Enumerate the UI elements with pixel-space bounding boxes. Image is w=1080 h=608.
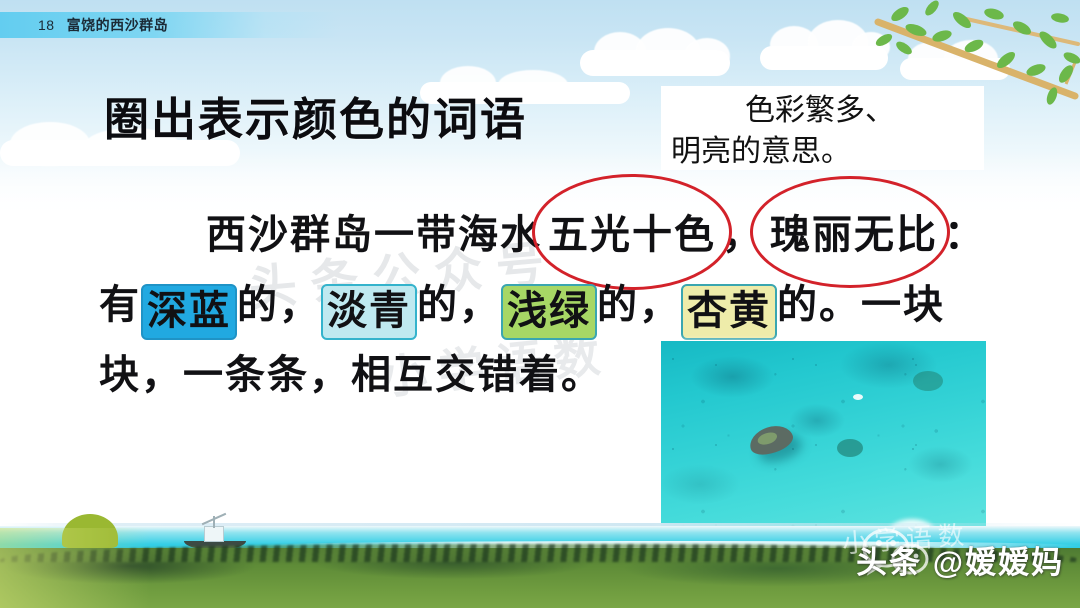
- circled-phrase-wuguangshise[interactable]: 五光十色: [542, 200, 722, 270]
- circled-phrase-guilwubi[interactable]: 瑰丽无比: [764, 200, 944, 270]
- lesson-number: 18: [38, 17, 55, 33]
- corner-glow: [0, 528, 150, 608]
- slide-canvas: 18 富饶的西沙群岛 圈出表示颜色的词语 色: [0, 0, 1080, 608]
- highlight-word-danqing[interactable]: 淡青: [321, 284, 417, 340]
- annotation-line-1: 色彩繁多、: [671, 90, 970, 131]
- coral-patch: [913, 371, 943, 391]
- annotation-line-2: 明亮的意思。: [671, 131, 970, 172]
- line2-sep-1: 的，: [237, 282, 321, 327]
- lesson-title: 富饶的西沙群岛: [67, 15, 169, 35]
- highlight-word-xinghuang[interactable]: 杏黄: [681, 284, 777, 340]
- text-line-2: 有深蓝的，淡青的，浅绿的，杏黄的。一块: [0, 270, 1010, 340]
- cloud-shape: [684, 38, 730, 74]
- text-line-1: 西沙群岛一带海水五光十色，瑰丽无比：: [0, 200, 1010, 270]
- page-title: 圈出表示颜色的词语: [104, 83, 527, 148]
- line2-sep-3: 的，: [597, 282, 681, 327]
- highlight-word-shenlan[interactable]: 深蓝: [141, 284, 237, 340]
- line1-prefix: 西沙群岛一带海水: [206, 212, 542, 257]
- line1-comma: ，: [722, 212, 764, 257]
- foam-spot: [853, 394, 863, 400]
- annotation-box: 色彩繁多、 明亮的意思。: [661, 86, 984, 170]
- lesson-header: 18 富饶的西沙群岛: [38, 13, 168, 37]
- brand-watermark: 头条 @嫒嫒妈: [856, 537, 1064, 582]
- coral-patch: [837, 439, 863, 457]
- line2-sep-4: 的。一块: [777, 282, 945, 327]
- line1-colon: ：: [944, 212, 986, 257]
- line2-word-you: 有: [99, 282, 141, 327]
- highlight-word-qianlv[interactable]: 浅绿: [501, 284, 597, 340]
- ship-cabin: [204, 526, 224, 542]
- line2-sep-2: 的，: [417, 282, 501, 327]
